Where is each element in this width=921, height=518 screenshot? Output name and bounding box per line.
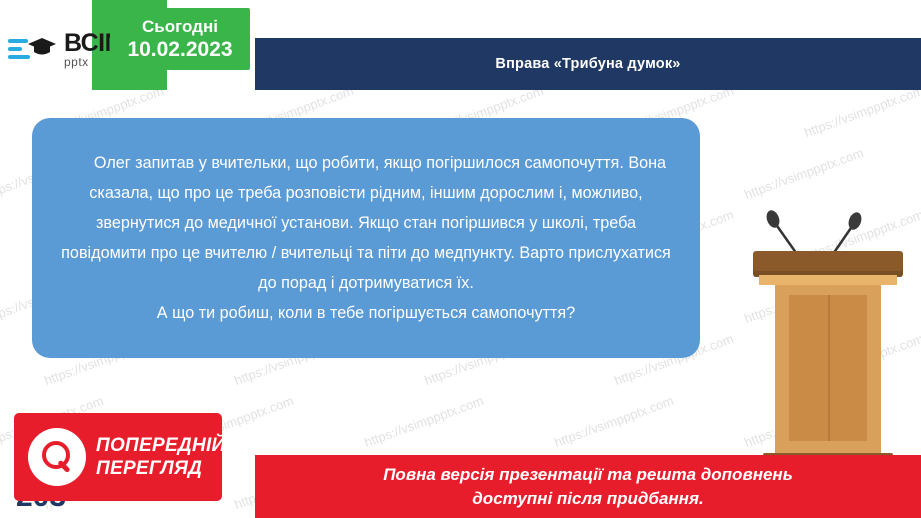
date-value: 10.02.2023: [127, 38, 232, 62]
watermark-text: https://vsimppptx.com: [802, 83, 921, 140]
podium-body: [775, 285, 881, 453]
date-label: Сьогодні: [142, 16, 218, 38]
preview-badge-text: ПОПЕРЕДНІЙ ПЕРЕГЛЯД: [96, 434, 226, 480]
content-card: Олег запитав у вчительки, що робити, якщ…: [32, 118, 700, 358]
podium-top: [753, 251, 903, 277]
slide: https://vsimppptx.comhttps://vsimppptx.c…: [0, 0, 921, 518]
podium-center-line: [828, 295, 830, 441]
header-top-strip: [255, 0, 921, 38]
card-paragraph-1-text: Олег запитав у вчительки, що робити, якщ…: [61, 154, 671, 292]
watermark-text: https://vsimppptx.com: [742, 145, 865, 202]
graduation-cap-icon: [28, 36, 58, 58]
bottom-banner-text: Повна версія презентації та решта доповн…: [255, 455, 921, 518]
bottom-banner-line-2: доступні після придбання.: [472, 487, 703, 511]
bottom-banner-line-1: Повна версія презентації та решта доповн…: [383, 463, 793, 487]
bottom-banner: Повна версія презентації та решта доповн…: [255, 455, 921, 518]
magnifier-icon: [40, 440, 74, 474]
preview-badge-circle: [28, 428, 86, 486]
card-paragraph-1: Олег запитав у вчительки, що робити, якщ…: [32, 148, 700, 298]
card-paragraph-2: А що ти робиш, коли в тебе погіршується …: [32, 298, 700, 328]
podium-top-edge: [759, 275, 897, 285]
podium-illustration: [735, 205, 921, 480]
page-title: Вправа «Трибуна думок»: [255, 38, 921, 90]
preview-badge-line-2: ПЕРЕГЛЯД: [96, 457, 226, 480]
watermark-text: https://vsimppptx.com: [362, 393, 485, 450]
date-badge: Сьогодні 10.02.2023: [110, 8, 250, 70]
preview-badge: ПОПЕРЕДНІЙ ПЕРЕГЛЯД: [14, 413, 222, 501]
watermark-text: https://vsimppptx.com: [552, 393, 675, 450]
preview-badge-line-1: ПОПЕРЕДНІЙ: [96, 434, 226, 457]
